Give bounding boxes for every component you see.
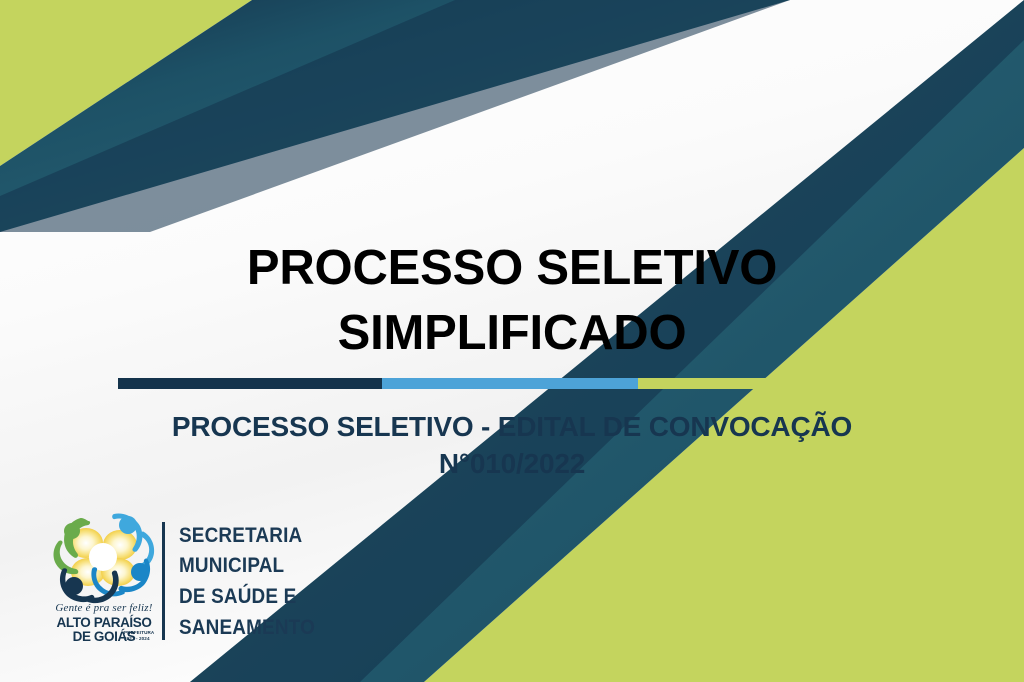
emblem-administration: PREFEITURA 2021 - 2024 [124, 630, 164, 641]
administration-line-2: 2021 - 2024 [124, 636, 164, 642]
subtitle-line-2: N°010/2022 [0, 445, 1024, 482]
tricolor-divider [118, 378, 904, 389]
divider-segment-blue [382, 378, 638, 389]
flower-people-emblem-icon [52, 510, 156, 606]
flower-core [69, 528, 137, 586]
divider-segment-green [638, 378, 904, 389]
municipality-emblem: Gente é pra ser feliz! ALTO PARAÍSO DE G… [52, 510, 156, 652]
slide-subtitle: PROCESSO SELETIVO - EDITAL DE CONVOCAÇÃO… [0, 408, 1024, 482]
presentation-slide: PROCESSO SELETIVO SIMPLIFICADO PROCESSO … [0, 0, 1024, 682]
emblem-city-line-1: ALTO PARAÍSO [52, 616, 156, 630]
title-line-2: SIMPLIFICADO [0, 301, 1024, 366]
org-line-2: MUNICIPAL [179, 550, 331, 581]
organization-name: SECRETARIA MUNICIPAL DE SAÚDE E SANEAMEN… [179, 520, 352, 642]
slide-title: PROCESSO SELETIVO SIMPLIFICADO [0, 236, 1024, 365]
title-line-1: PROCESSO SELETIVO [0, 236, 1024, 301]
subtitle-line-1: PROCESSO SELETIVO - EDITAL DE CONVOCAÇÃO [0, 408, 1024, 445]
logo-lockup: Gente é pra ser feliz! ALTO PARAÍSO DE G… [52, 506, 352, 656]
divider-segment-navy [118, 378, 382, 389]
emblem-slogan: Gente é pra ser feliz! [52, 602, 156, 614]
org-line-3: DE SAÚDE E [179, 581, 331, 612]
logo-vertical-divider [162, 522, 165, 640]
org-line-4: SANEAMENTO [179, 612, 331, 643]
org-line-1: SECRETARIA [179, 520, 331, 551]
